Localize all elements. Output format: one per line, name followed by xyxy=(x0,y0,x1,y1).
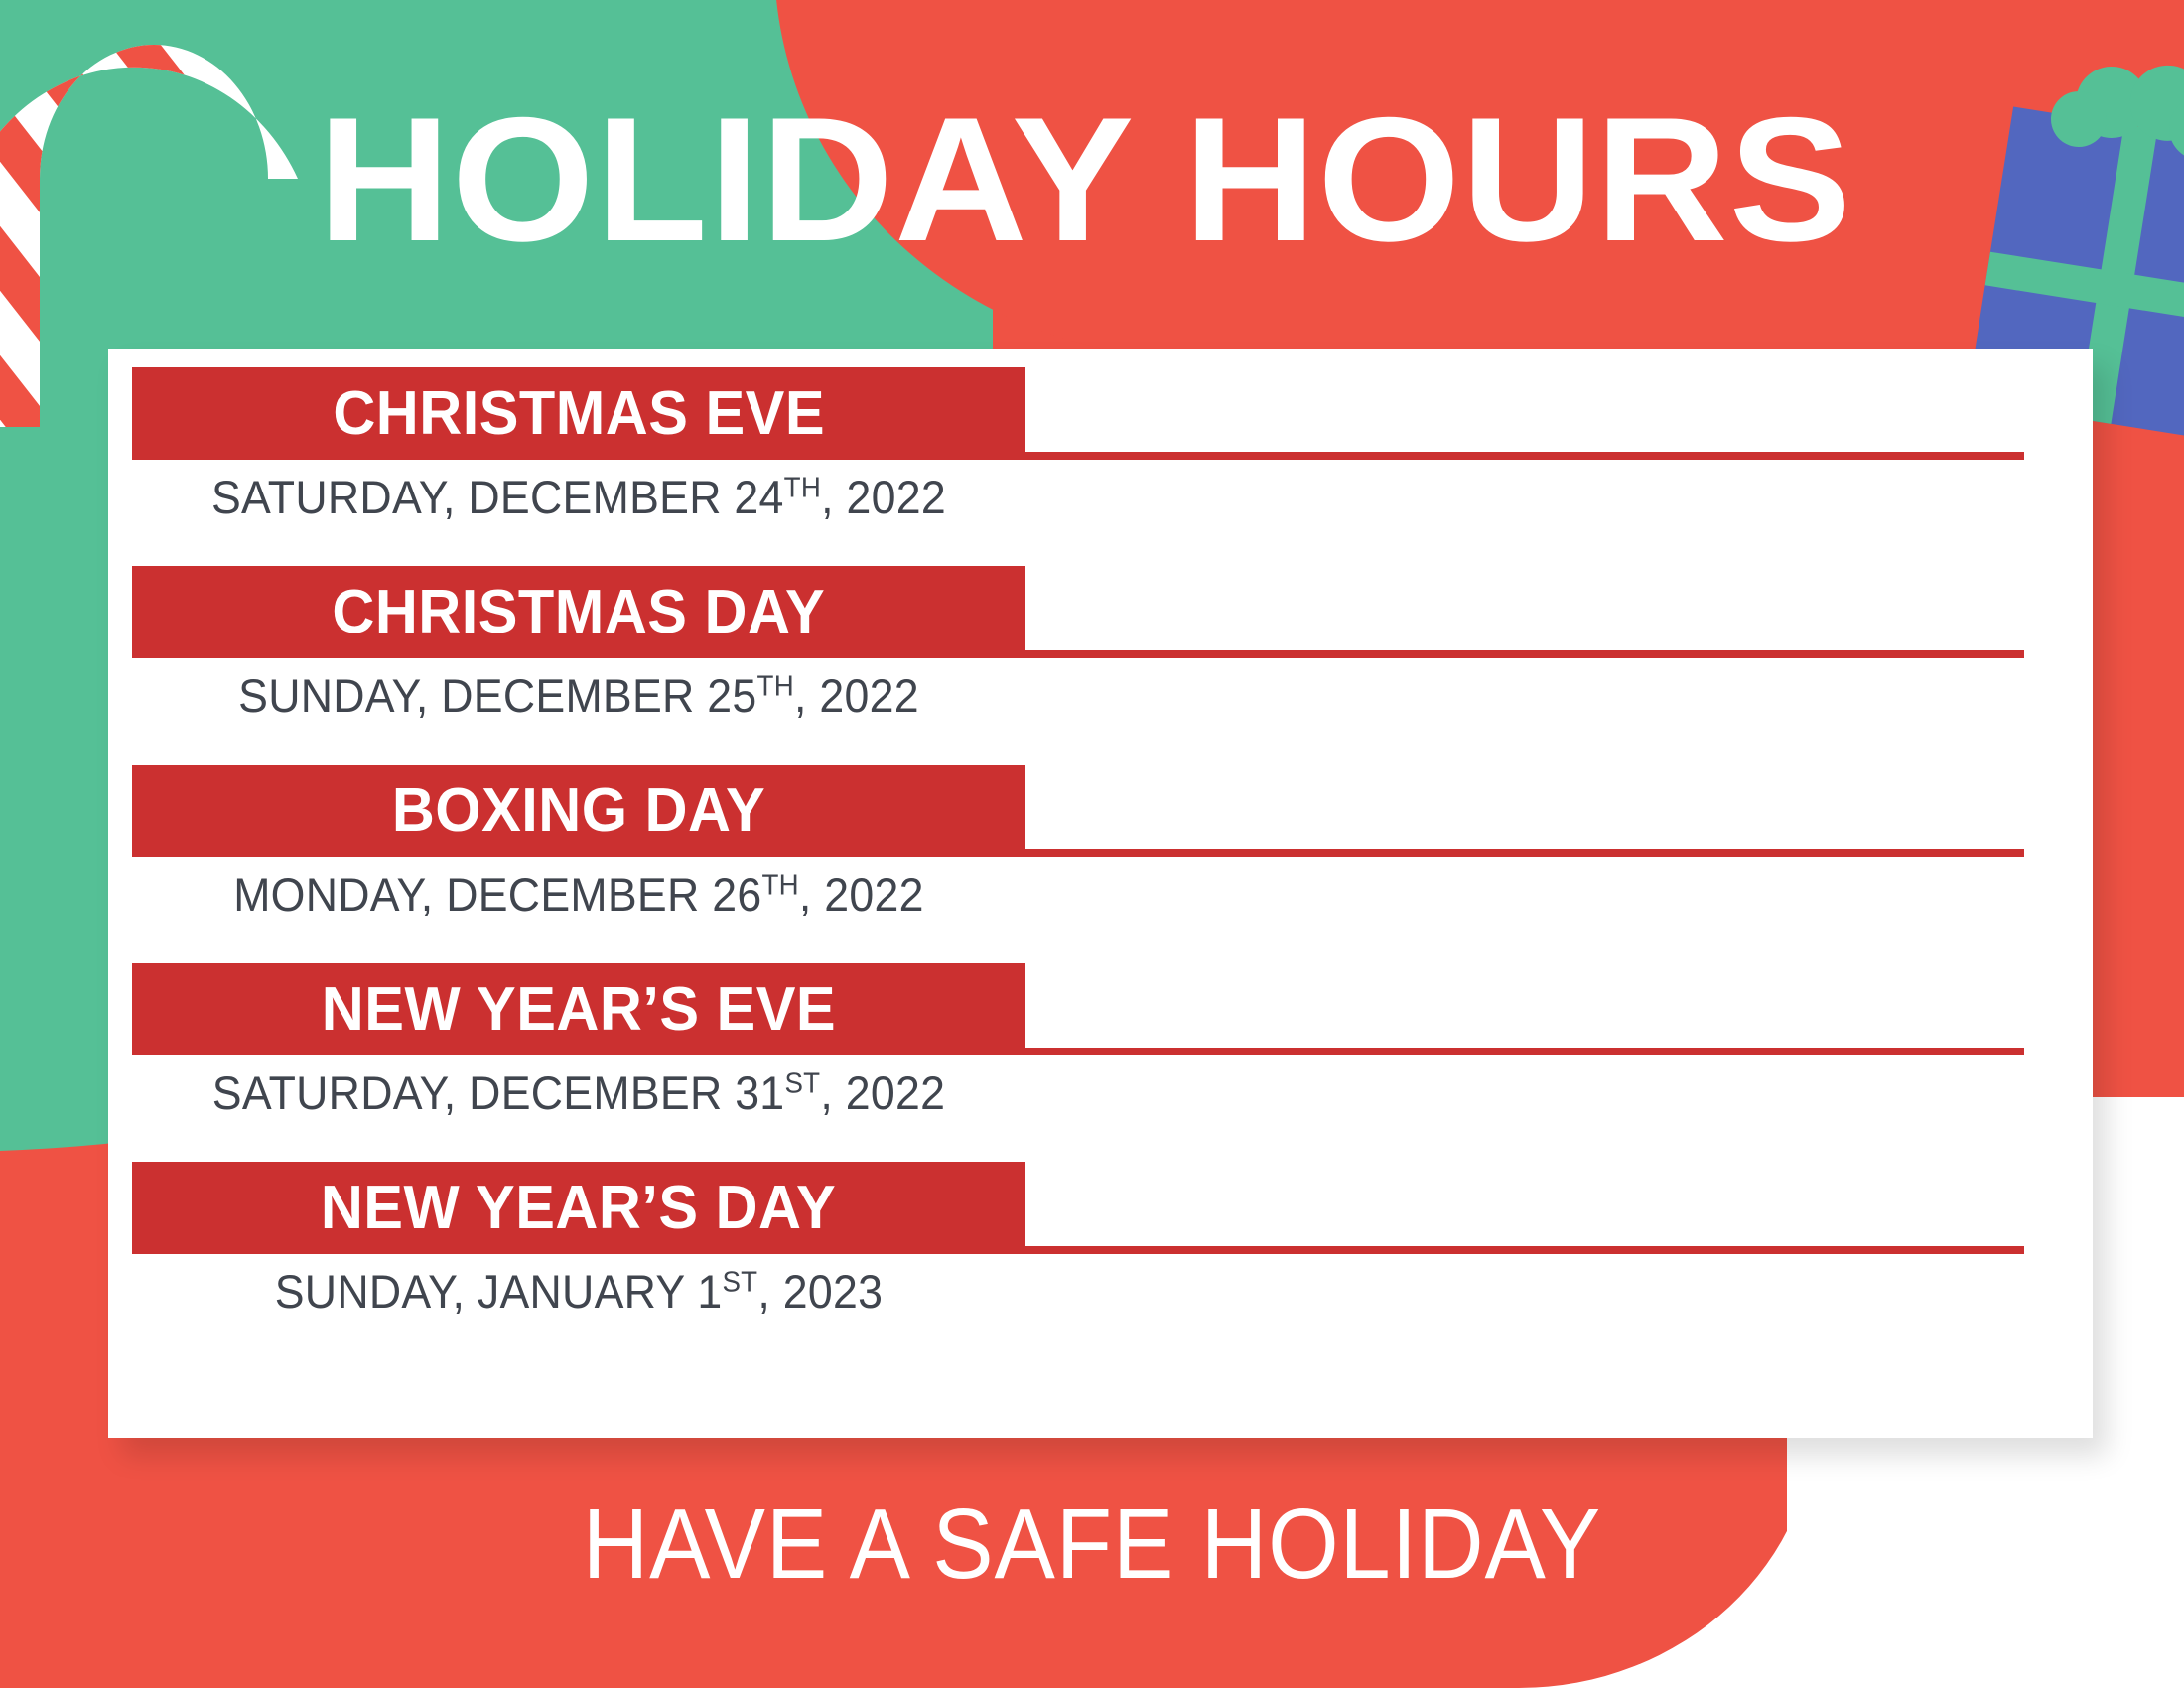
holiday-date-ordinal: TH xyxy=(761,869,798,901)
holiday-date-prefix: SUNDAY, JANUARY 1 xyxy=(275,1265,723,1318)
holiday-date-year: , 2022 xyxy=(799,868,924,920)
holiday-date-prefix: MONDAY, DECEMBER 26 xyxy=(233,868,761,920)
holiday-name: CHRISTMAS EVE xyxy=(333,383,825,445)
holiday-date-prefix: SATURDAY, DECEMBER 31 xyxy=(212,1066,785,1119)
holiday-date-ordinal: ST xyxy=(722,1266,757,1298)
holiday-row: CHRISTMAS DAY SUNDAY, DECEMBER 25TH, 202… xyxy=(108,547,2093,746)
holiday-banner: BOXING DAY xyxy=(132,765,1025,857)
holiday-date-ordinal: ST xyxy=(784,1067,820,1099)
hours-rule-line xyxy=(1025,452,2024,460)
holiday-date-prefix: SATURDAY, DECEMBER 24 xyxy=(211,471,784,523)
hours-rule-line xyxy=(1025,650,2024,658)
holiday-date: SUNDAY, JANUARY 1ST, 2023 xyxy=(155,1264,1004,1319)
holiday-date-ordinal: TH xyxy=(757,670,794,702)
holiday-date-prefix: SUNDAY, DECEMBER 25 xyxy=(238,669,756,722)
holiday-name: NEW YEAR’S DAY xyxy=(321,1178,836,1239)
holiday-date-year: , 2022 xyxy=(820,1066,945,1119)
holiday-hours-poster: HOLIDAY HOURS CHRISTMAS EVE SATURDAY, DE… xyxy=(0,0,2184,1688)
holiday-name: CHRISTMAS DAY xyxy=(333,582,826,643)
footer-message: HAVE A SAFE HOLIDAY xyxy=(87,1494,2097,1594)
holiday-row: CHRISTMAS EVE SATURDAY, DECEMBER 24TH, 2… xyxy=(108,349,2093,547)
hours-rule-line xyxy=(1025,1246,2024,1254)
holiday-banner: CHRISTMAS DAY xyxy=(132,566,1025,658)
holiday-banner: CHRISTMAS EVE xyxy=(132,367,1025,460)
holiday-banner: NEW YEAR’S EVE xyxy=(132,963,1025,1055)
holiday-name: BOXING DAY xyxy=(392,780,765,842)
holiday-date-ordinal: TH xyxy=(784,472,821,503)
holiday-date-year: , 2022 xyxy=(821,471,946,523)
holiday-row: NEW YEAR’S EVE SATURDAY, DECEMBER 31ST, … xyxy=(108,944,2093,1143)
holiday-date: SATURDAY, DECEMBER 31ST, 2022 xyxy=(155,1065,1004,1120)
holiday-date-year: , 2023 xyxy=(757,1265,883,1318)
page-title: HOLIDAY HOURS xyxy=(318,91,2011,268)
holiday-date: SATURDAY, DECEMBER 24TH, 2022 xyxy=(155,470,1004,524)
hours-rule-line xyxy=(1025,849,2024,857)
holiday-date: SUNDAY, DECEMBER 25TH, 2022 xyxy=(155,668,1004,723)
holiday-row: BOXING DAY MONDAY, DECEMBER 26TH, 2022 xyxy=(108,746,2093,944)
holiday-rows-list: CHRISTMAS EVE SATURDAY, DECEMBER 24TH, 2… xyxy=(108,349,2093,1354)
holiday-name: NEW YEAR’S EVE xyxy=(322,979,836,1041)
holiday-row: NEW YEAR’S DAY SUNDAY, JANUARY 1ST, 2023 xyxy=(108,1143,2093,1354)
holiday-banner: NEW YEAR’S DAY xyxy=(132,1162,1025,1254)
holiday-date-year: , 2022 xyxy=(794,669,919,722)
hours-rule-line xyxy=(1025,1048,2024,1055)
hours-card: CHRISTMAS EVE SATURDAY, DECEMBER 24TH, 2… xyxy=(108,349,2093,1438)
holiday-date: MONDAY, DECEMBER 26TH, 2022 xyxy=(155,867,1004,921)
